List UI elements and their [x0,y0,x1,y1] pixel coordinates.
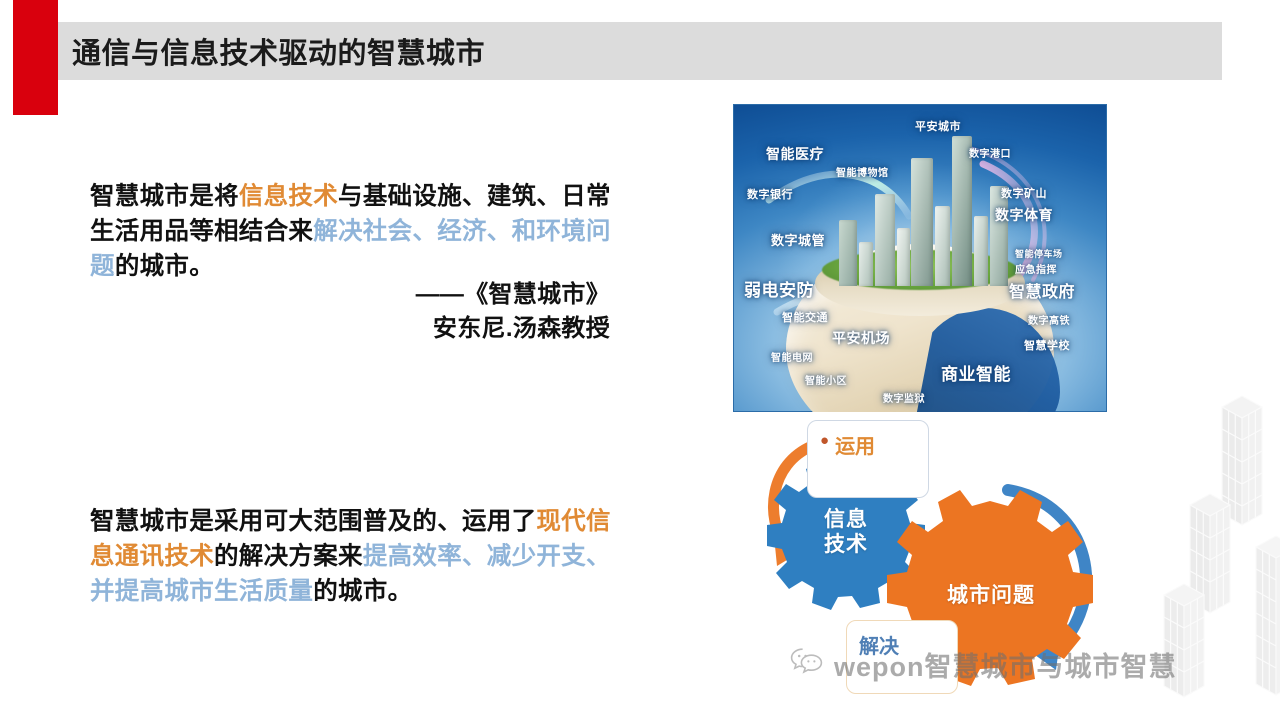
skyline-building [875,194,895,286]
illustration-label: 商业智能 [941,360,1011,385]
skyline-building [839,220,857,286]
text-run-2: 的解决方案来 [214,543,363,570]
skyline-building [911,158,933,286]
text-run-0: 智慧城市是将 [90,183,239,210]
illustration-label: 智能电网 [771,349,813,364]
smart-city-illustration: 平安城市数字港口智能医疗智能博物馆数字银行数字矿山数字体育智能停车场数字城管应急… [733,104,1107,412]
callout-apply[interactable]: ● 运用 [807,420,929,498]
decorative-cubes [1160,375,1280,720]
illustration-label: 智慧学校 [1024,337,1070,353]
text-run-4: 的城市。 [115,253,214,280]
illustration-label: 数字监狱 [883,390,925,405]
wechat-icon [790,647,824,682]
illustration-label: 平安城市 [915,118,961,134]
attribution-author: 安东尼.汤森教授 [300,312,610,346]
gear-blue-label: 信息 技术 [800,508,892,558]
illustration-label: 智能小区 [805,372,847,387]
illustration-label: 智能交通 [782,309,828,325]
watermark: wepon智慧城市与城市智慧 [790,645,1177,684]
illustration-label: 应急指挥 [1015,261,1057,276]
callout-apply-label: 运用 [835,430,875,459]
quote-attribution: ——《智慧城市》 安东尼.汤森教授 [300,278,610,346]
bullet-icon: ● [820,430,829,453]
slide: 通信与信息技术驱动的智慧城市 智慧城市是将信息技术与基础设施、建筑、日常生活用品… [0,0,1280,720]
text-run-0: 智慧城市是采用可大范围普及的、运用了 [90,508,536,535]
skyline-building [897,228,910,286]
illustration-label: 数字高铁 [1028,312,1070,327]
text-run-4: 的城市。 [313,578,412,605]
paragraph-definition: 智慧城市是采用可大范围普及的、运用了现代信息通讯技术的解决方案来提高效率、减少开… [90,505,630,609]
skyline-building [859,242,873,286]
gear-orange-label: 城市问题 [928,584,1054,609]
illustration-label: 数字矿山 [1001,185,1047,201]
illustration-label: 数字城管 [771,230,825,249]
page-title: 通信与信息技术驱动的智慧城市 [72,23,485,79]
text-run-1: 信息技术 [239,183,338,210]
accent-bar [13,0,58,115]
skyline-building [935,206,950,286]
paragraph-quote: 智慧城市是将信息技术与基础设施、建筑、日常生活用品等相结合来解决社会、经济、和环… [90,180,630,284]
watermark-text: wepon智慧城市与城市智慧 [834,645,1177,684]
illustration-label: 数字体育 [995,205,1053,225]
illustration-label: 弱电安防 [744,276,814,301]
illustration-label: 智能停车场 [1015,247,1063,260]
illustration-label: 数字港口 [969,145,1011,160]
skyline-building [990,186,1008,286]
illustration-label: 数字银行 [747,186,793,202]
attribution-source: ——《智慧城市》 [300,278,610,312]
city-skyline [825,116,1015,286]
illustration-label: 智能博物馆 [836,164,889,179]
illustration-label: 智慧政府 [1009,278,1075,302]
illustration-label: 平安机场 [832,328,890,348]
illustration-label: 智能医疗 [766,144,824,164]
skyline-building [974,216,988,286]
